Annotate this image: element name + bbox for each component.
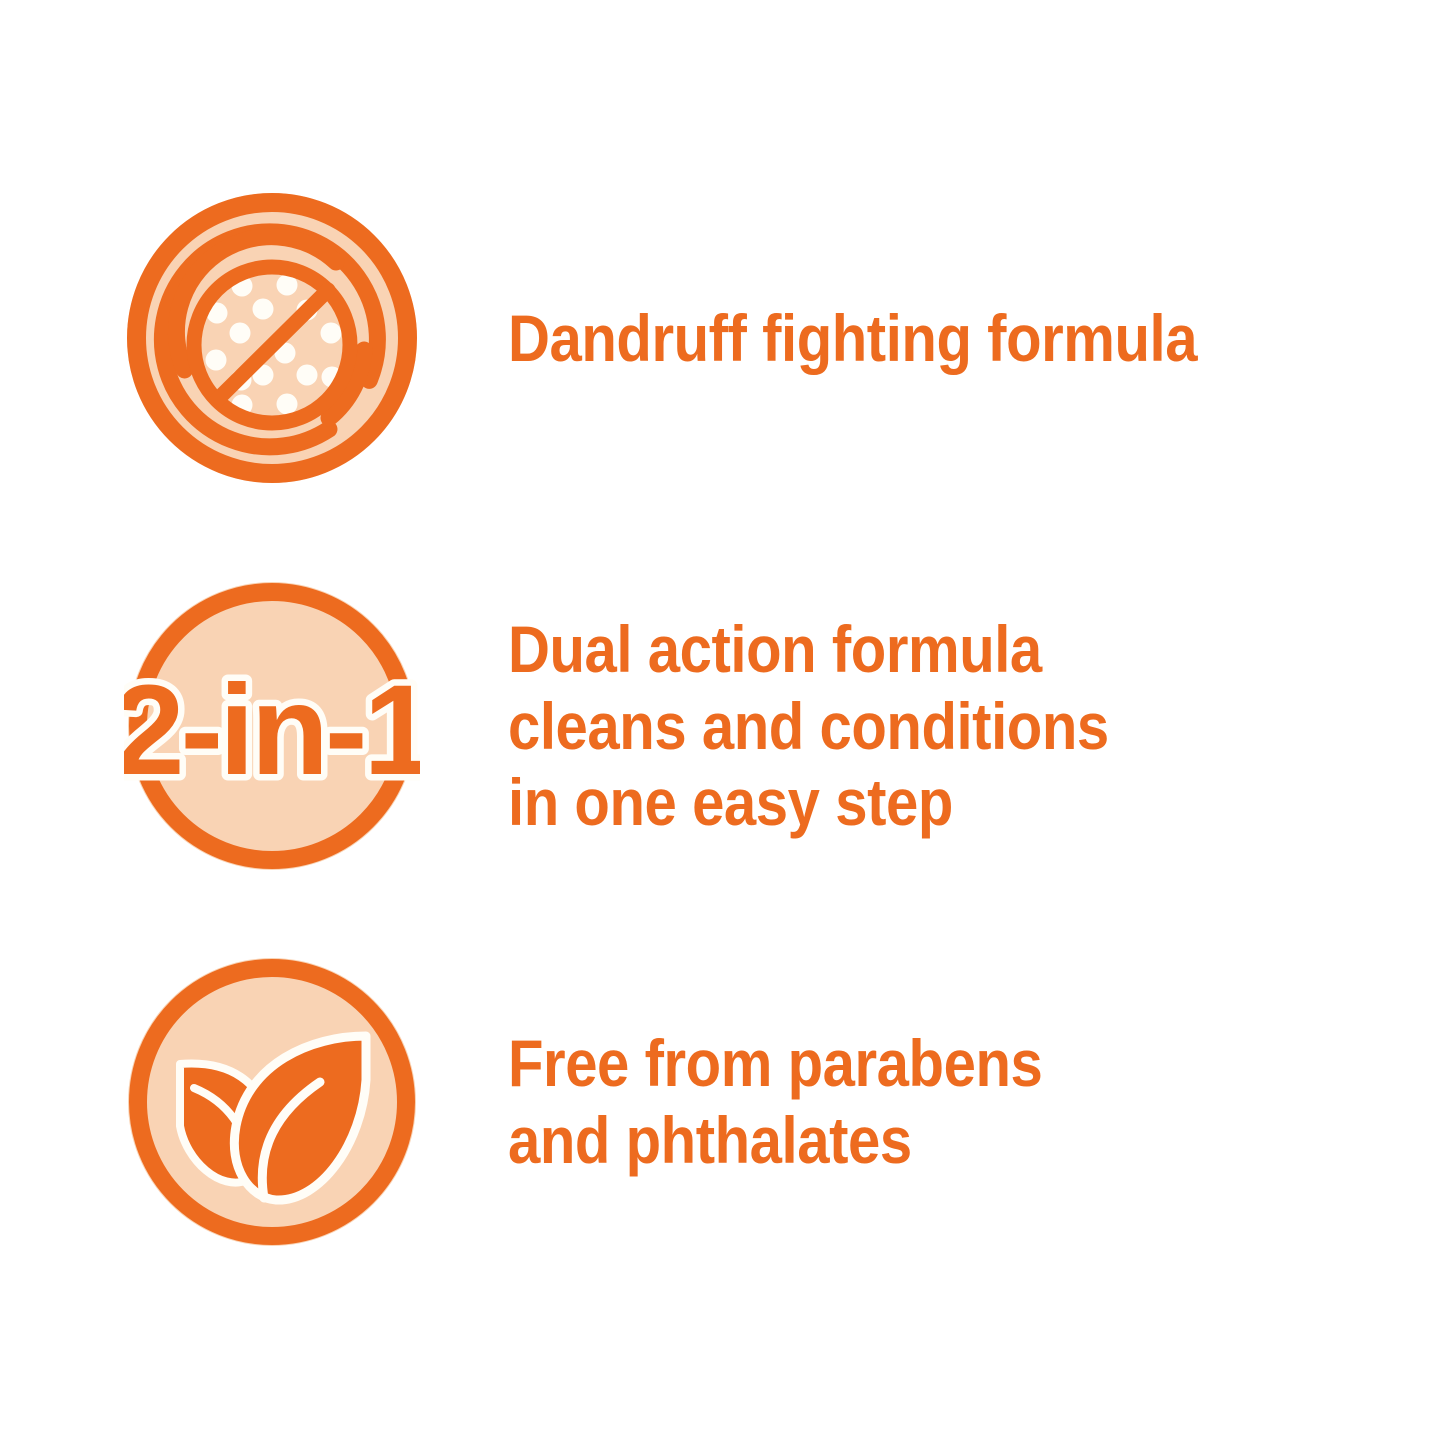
feature-row: Free from parabens and phthalates bbox=[0, 954, 1445, 1250]
feature-text: Dual action formula cleans and condition… bbox=[508, 611, 1333, 841]
two-in-one-icon: 2-in-1 2-in-1 bbox=[124, 578, 420, 874]
feature-row: 2-in-1 2-in-1 Dual action formula cleans… bbox=[0, 578, 1445, 874]
leaf-natural-icon bbox=[124, 954, 420, 1250]
no-dandruff-flakes-icon bbox=[124, 190, 420, 486]
feature-list-panel: Dandruff fighting formula 2-in-1 2-in-1 … bbox=[0, 0, 1445, 1445]
feature-text: Free from parabens and phthalates bbox=[508, 1025, 1333, 1178]
two-in-one-label: 2-in-1 bbox=[124, 659, 420, 802]
feature-text: Dandruff fighting formula bbox=[508, 300, 1333, 377]
feature-row: Dandruff fighting formula bbox=[0, 190, 1445, 486]
